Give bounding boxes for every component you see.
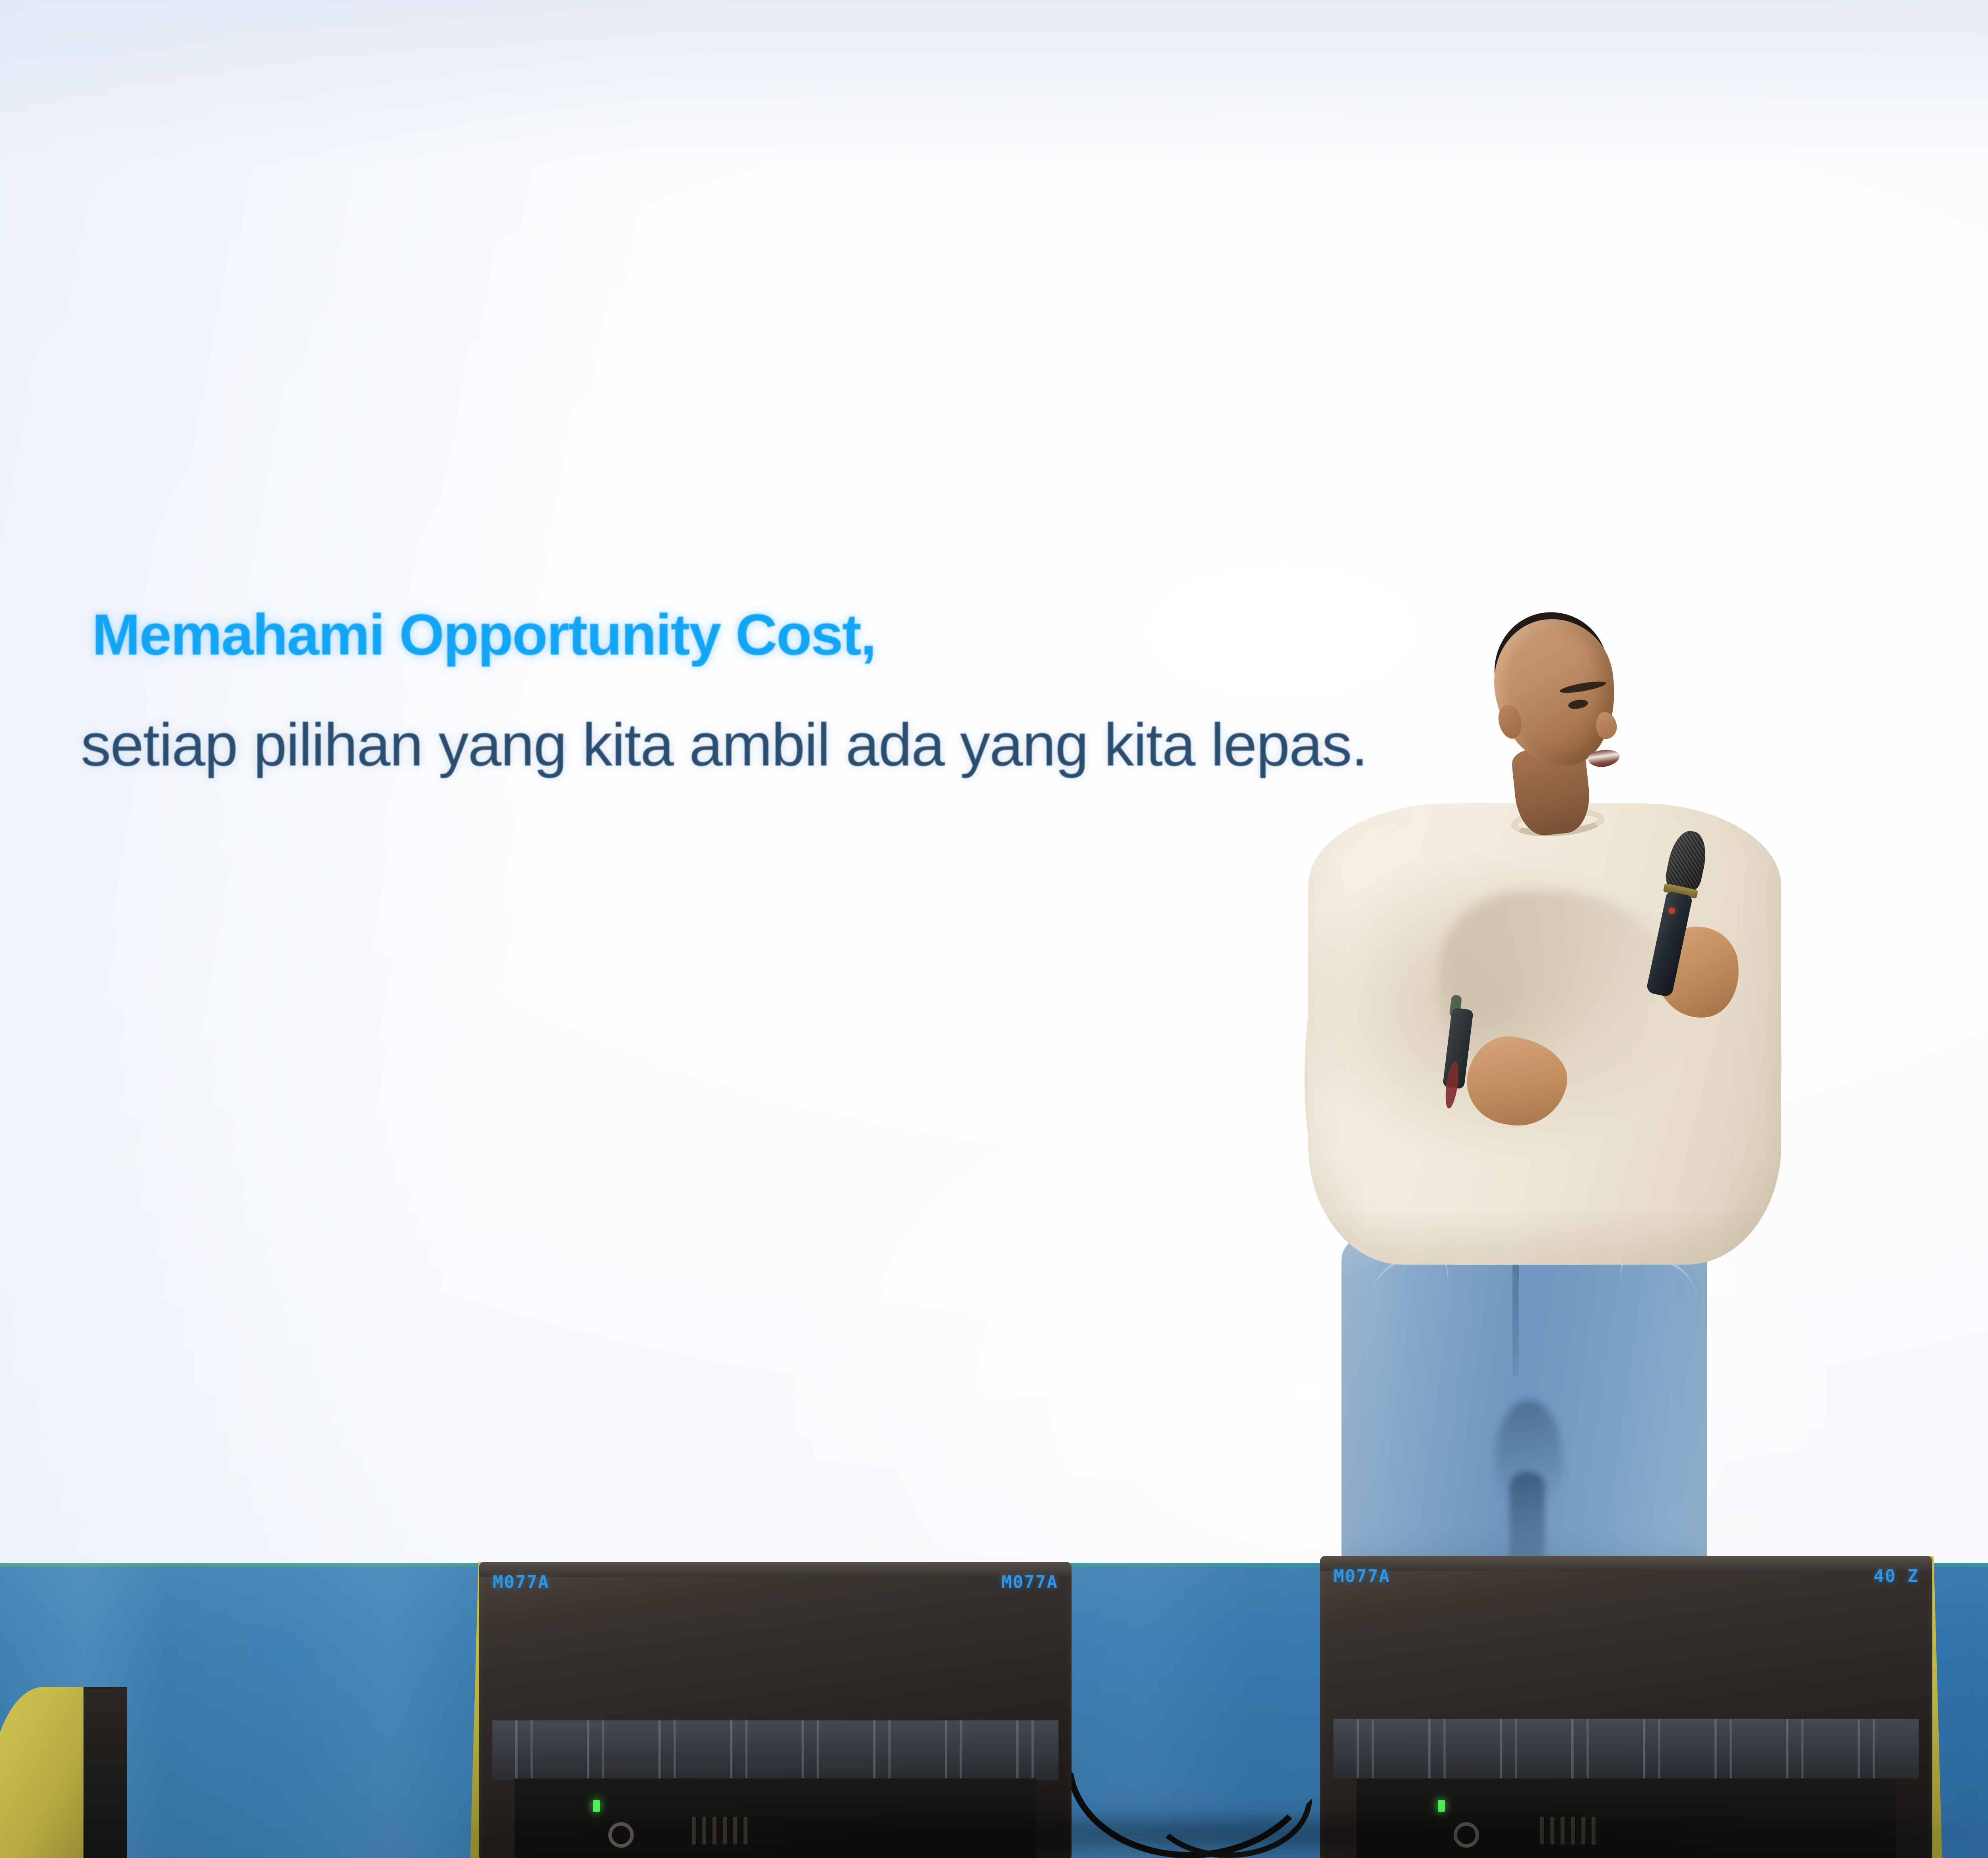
stage-monitor-left: M077A M077A xyxy=(479,1562,1072,1858)
monitor-right-power-led xyxy=(1438,1800,1445,1812)
monitor-left-volume-knob[interactable] xyxy=(608,1822,634,1848)
monitor-right-grille-slots xyxy=(1334,1719,1919,1778)
monitor-left-top-lip xyxy=(479,1562,1072,1577)
monitor-left-power-led xyxy=(593,1800,600,1812)
monitor-left-label-left: M077A xyxy=(493,1572,549,1592)
stage-presentation-photo: Memahami Opportunity Cost, setiap piliha… xyxy=(0,0,1988,1858)
monitor-left-grille-slots xyxy=(492,1720,1058,1780)
monitor-right-body: M077A 40 Z xyxy=(1320,1556,1932,1858)
monitor-right-grille xyxy=(1334,1719,1919,1778)
monitor-right-label-left: M077A xyxy=(1334,1566,1390,1586)
left-pa-wedge-face xyxy=(83,1687,127,1858)
monitor-right-amp-panel xyxy=(1357,1778,1895,1858)
monitor-right-connector-ports xyxy=(1540,1817,1600,1844)
monitor-right-volume-knob[interactable] xyxy=(1454,1822,1479,1848)
monitor-left-connector-ports xyxy=(692,1817,751,1844)
monitor-left-body: M077A M077A xyxy=(479,1562,1072,1858)
monitor-left-amp-panel xyxy=(514,1778,1036,1858)
monitor-right-label-right: 40 Z xyxy=(1873,1566,1919,1586)
monitor-left-label-right: M077A xyxy=(1002,1572,1058,1592)
stage-monitor-right: M077A 40 Z xyxy=(1320,1556,1932,1858)
monitor-right-top-lip xyxy=(1320,1556,1932,1571)
monitor-left-grille xyxy=(492,1720,1058,1780)
